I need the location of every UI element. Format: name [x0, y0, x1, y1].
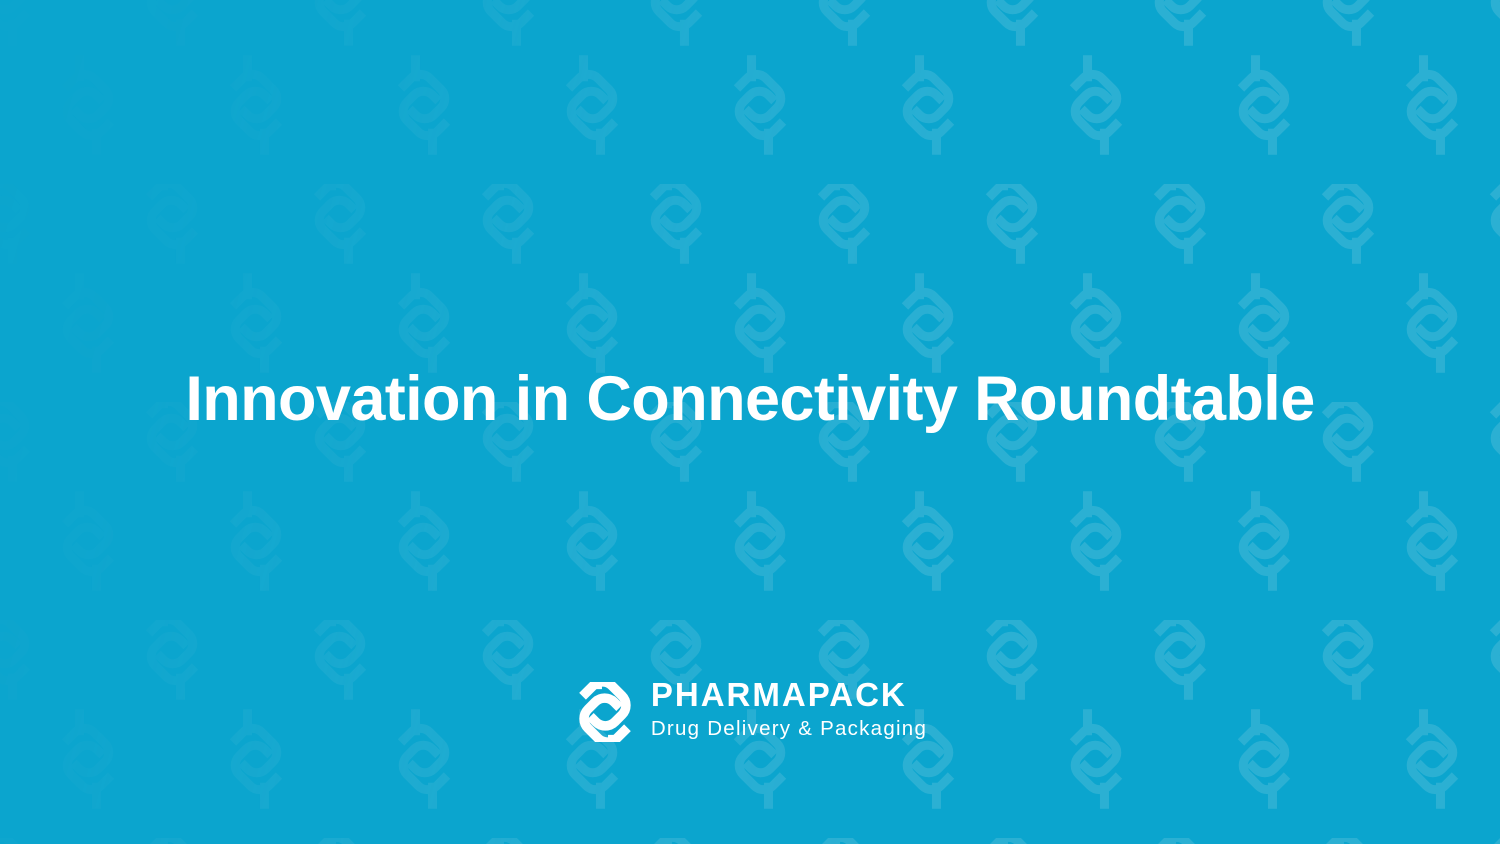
pharmapack-logo: PHARMAPACK Drug Delivery & Packaging [0, 678, 1500, 742]
logo-tagline: Drug Delivery & Packaging [651, 718, 927, 741]
pharmapack-chain-link-mark-icon [573, 682, 637, 742]
logo-text-block: PHARMAPACK Drug Delivery & Packaging [651, 678, 927, 740]
page-title: Innovation in Connectivity Roundtable [0, 362, 1500, 436]
title-block: Innovation in Connectivity Roundtable [0, 362, 1500, 436]
title-slide: Innovation in Connectivity Roundtable PH… [0, 0, 1500, 844]
logo-wordmark: PHARMAPACK [651, 678, 907, 713]
